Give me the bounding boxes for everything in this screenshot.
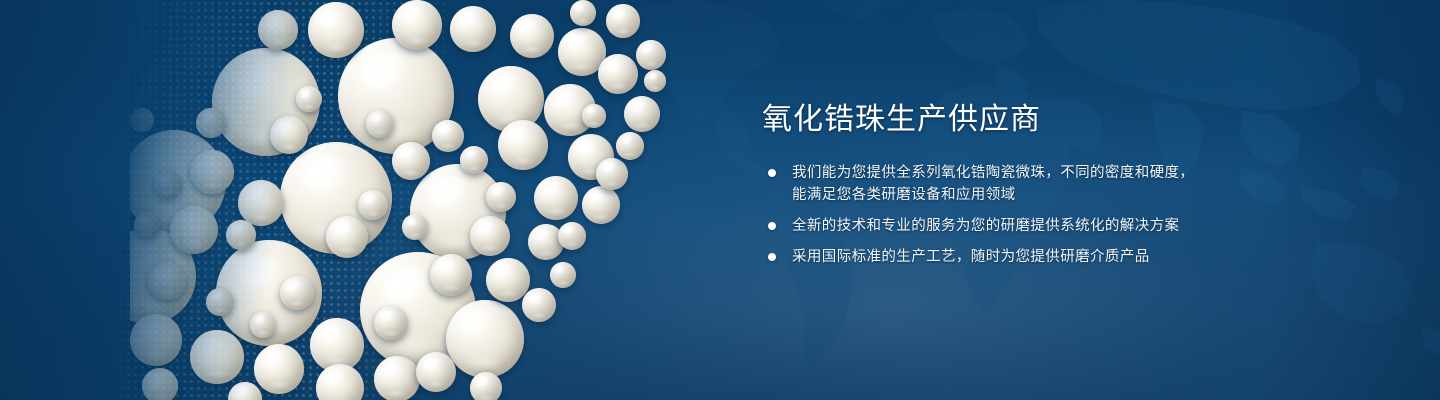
page-title: 氧化锆珠生产供应商 [762, 104, 1232, 136]
bullet-dot-icon [768, 222, 776, 230]
list-item: 我们能为您提供全系列氧化锆陶瓷微珠，不同的密度和硬度， 能满足您各类研磨设备和应… [762, 162, 1232, 206]
bullet-dot-icon [768, 169, 776, 177]
feature-text-line: 采用国际标准的生产工艺，随时为您提供研磨介质产品 [792, 246, 1232, 268]
banner-content: 氧化锆珠生产供应商 我们能为您提供全系列氧化锆陶瓷微珠，不同的密度和硬度， 能满… [762, 104, 1232, 268]
zirconia-beads-photo [130, 0, 690, 400]
bullet-dot-icon [768, 253, 776, 261]
list-item: 全新的技术和专业的服务为您的研磨提供系统化的解决方案 [762, 215, 1232, 237]
feature-list: 我们能为您提供全系列氧化锆陶瓷微珠，不同的密度和硬度， 能满足您各类研磨设备和应… [762, 162, 1232, 268]
hero-banner: 氧化锆珠生产供应商 我们能为您提供全系列氧化锆陶瓷微珠，不同的密度和硬度， 能满… [0, 0, 1440, 400]
feature-text-line: 全新的技术和专业的服务为您的研磨提供系统化的解决方案 [792, 215, 1232, 237]
feature-text-line: 我们能为您提供全系列氧化锆陶瓷微珠，不同的密度和硬度， [792, 162, 1232, 184]
feature-text-line: 能满足您各类研磨设备和应用领域 [792, 184, 1232, 206]
list-item: 采用国际标准的生产工艺，随时为您提供研磨介质产品 [762, 246, 1232, 268]
